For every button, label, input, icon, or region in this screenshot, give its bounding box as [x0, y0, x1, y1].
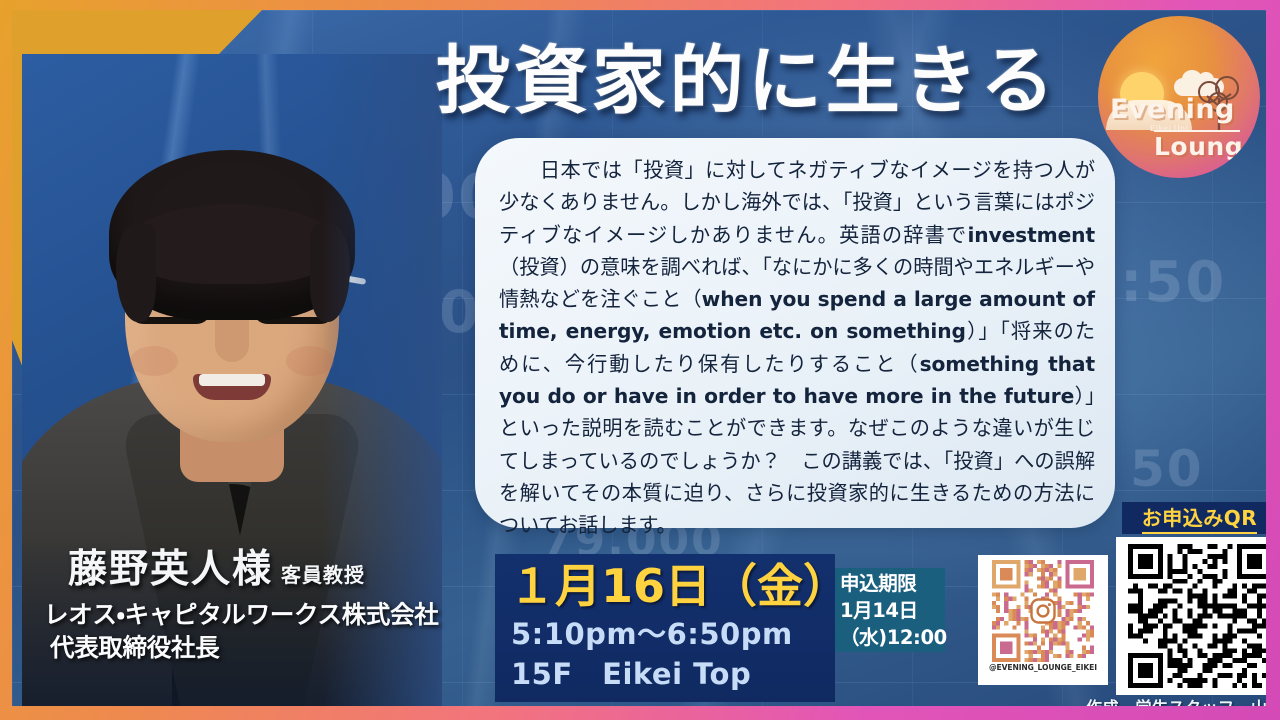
- deadline-time: （水)12:00: [840, 624, 940, 651]
- instagram-qr-code: [983, 560, 1103, 662]
- instagram-handle: @EVENING_LOUNGE_EIKEI: [989, 663, 1097, 672]
- qr-heading-text: お申込みQR: [1142, 502, 1257, 534]
- speaker-caption: 藤野英人様客員教授 レオス・キャピタルワークス株式会社 代表取締役社長: [30, 538, 480, 664]
- event-date-panel: １月16日（金） 5:10pm〜6:50pm 15F Eikei Top: [495, 554, 835, 702]
- instagram-icon: [1030, 598, 1056, 624]
- deadline-label: 申込期限: [840, 570, 940, 597]
- deadline-date: 1月14日: [840, 597, 940, 624]
- page-title: 投資家的に生きる: [382, 26, 1112, 122]
- evening-lounge-logo: Evening Eikei Uni. Lounge: [1098, 16, 1260, 178]
- instagram-qr-card[interactable]: @EVENING_LOUNGE_EIKEI: [978, 555, 1108, 685]
- speaker-role: 代表取締役社長: [30, 631, 480, 664]
- logo-primary-text: Evening: [1110, 94, 1235, 125]
- teeth-shape: [199, 374, 265, 386]
- hair-side-left: [116, 224, 156, 322]
- speaker-name-text: 藤野英人様: [68, 546, 273, 592]
- speaker-name: 藤野英人様客員教授: [30, 538, 480, 594]
- application-deadline-box: 申込期限 1月14日 （水)12:00: [835, 568, 945, 652]
- poster-canvas: 5.00 7.50 :50 50 79.000 3.50 0.50: [12, 10, 1266, 706]
- speaker-title-suffix: 客員教授: [281, 563, 365, 587]
- credit-text: 作成 学生スタッフ 山形: [1052, 694, 1266, 706]
- application-qr-code[interactable]: [1116, 537, 1266, 695]
- description-text: 日本では「投資」に対してネガティブなイメージを持つ人が少なくありません。しかし海…: [499, 154, 1095, 542]
- event-venue: 15F Eikei Top: [511, 654, 835, 694]
- qr-code-icon: [1123, 544, 1266, 688]
- qr-heading-bar: お申込みQR: [1122, 502, 1266, 534]
- event-time: 5:10pm〜6:50pm: [511, 614, 835, 654]
- event-date: １月16日（金）: [509, 558, 835, 614]
- description-bubble: 日本では「投資」に対してネガティブなイメージを持つ人が少なくありません。しかし海…: [475, 138, 1115, 528]
- poster-frame: 5.00 7.50 :50 50 79.000 3.50 0.50: [0, 0, 1280, 720]
- cheek-left: [130, 346, 178, 376]
- logo-secondary-text: Lounge: [1154, 132, 1260, 161]
- speaker-organization: レオス・キャピタルワークス株式会社: [30, 598, 480, 631]
- mouth-shape: [193, 374, 271, 400]
